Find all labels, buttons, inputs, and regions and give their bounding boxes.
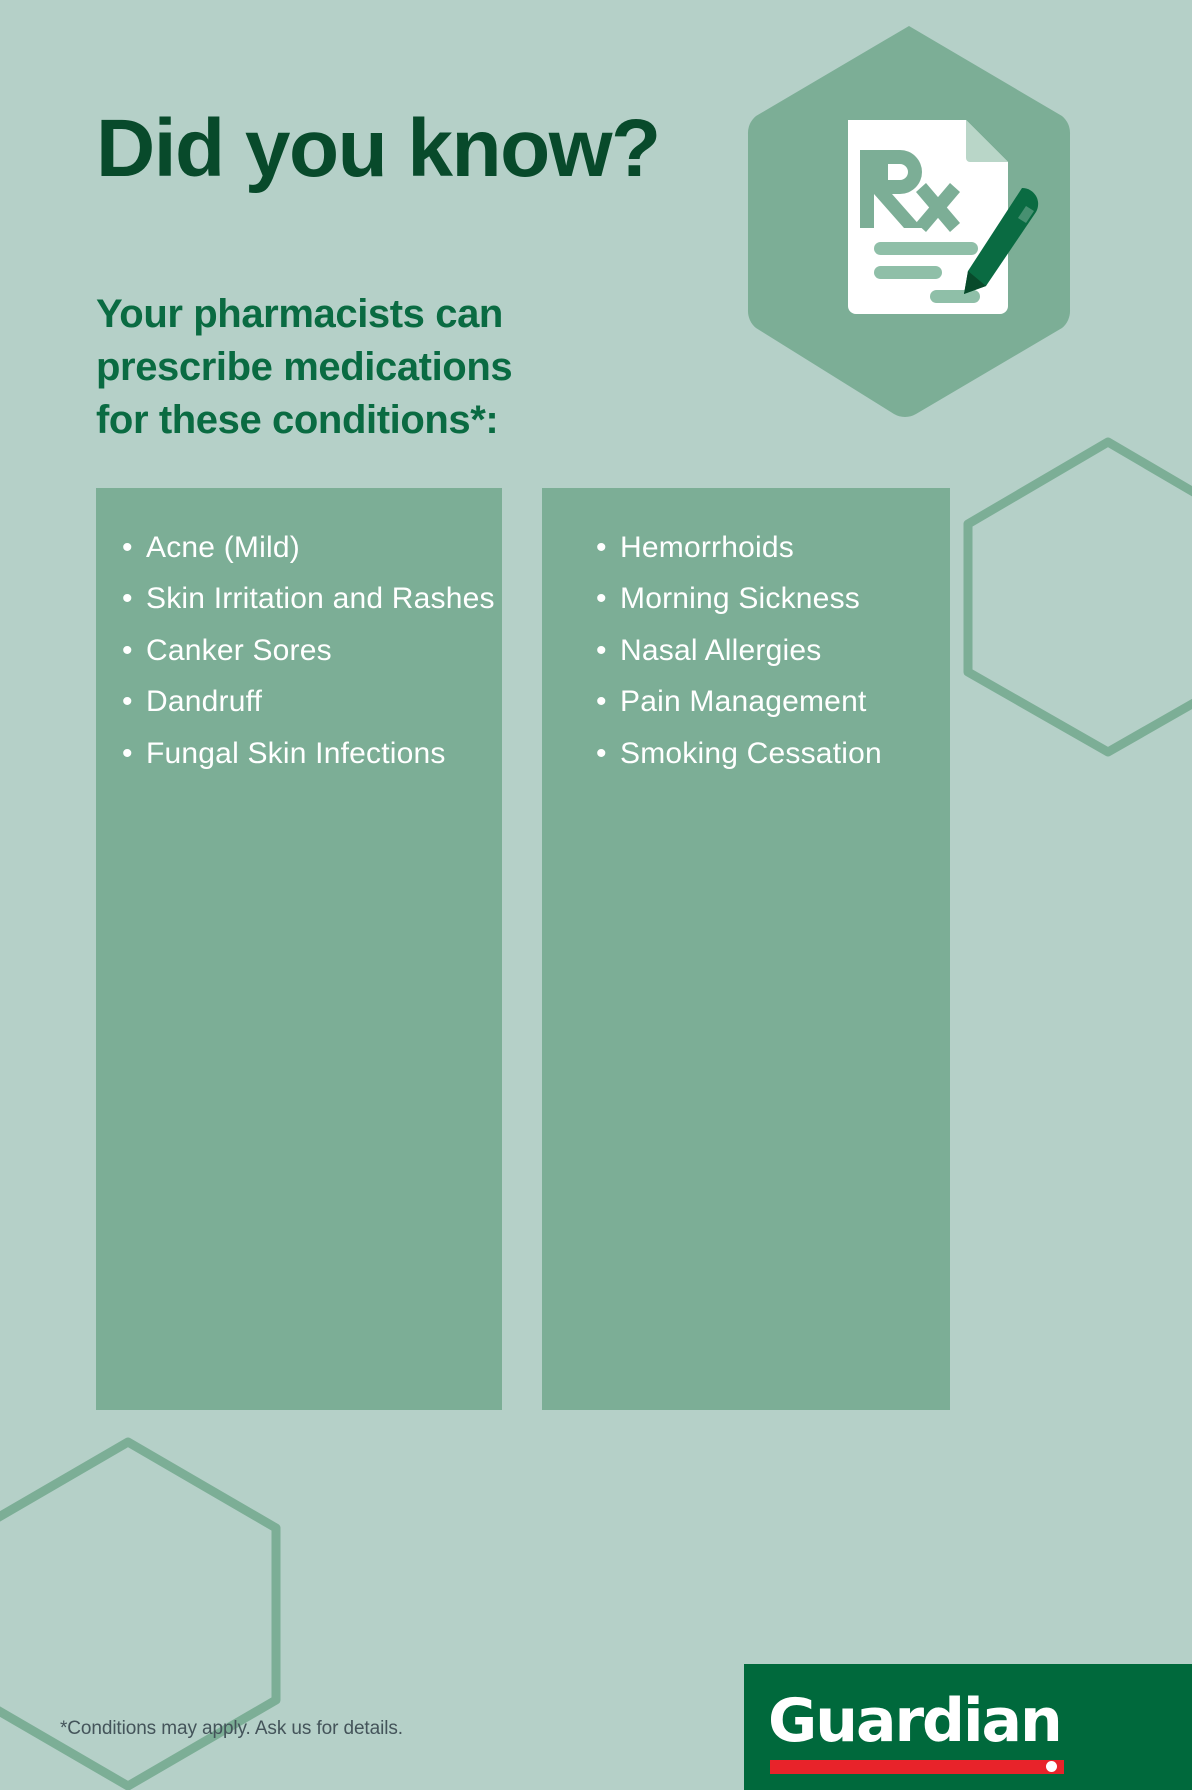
list-item-label: Canker Sores [146,634,332,667]
list-item: • Hemorrhoids [574,524,950,571]
footnote-disclaimer: *Conditions may apply. Ask us for detail… [60,1718,403,1740]
list-item-label: Smoking Cessation [620,737,882,770]
bullet-icon: • [596,627,607,674]
list-item-label: Skin Irritation and Rashes [146,582,495,615]
bullet-icon: • [122,730,133,777]
bullet-icon: • [122,627,133,674]
bullet-icon: • [596,524,607,571]
list-item-label: Nasal Allergies [620,634,821,667]
registered-trademark-icon [1046,1761,1057,1772]
list-item: • Fungal Skin Infections [100,730,502,777]
guardian-logo: Guardian [744,1664,1192,1790]
list-item: • Nasal Allergies [574,627,950,674]
conditions-panel-right: • Hemorrhoids • Morning Sickness • Nasal… [542,488,950,1410]
list-item-label: Fungal Skin Infections [146,737,446,770]
list-item-label: Hemorrhoids [620,531,794,564]
page-title: Did you know? [96,108,660,190]
bullet-icon: • [122,678,133,725]
list-item-label: Acne (Mild) [146,531,300,564]
list-item: • Morning Sickness [574,575,950,622]
list-item-label: Morning Sickness [620,582,860,615]
page-subtitle: Your pharmacists can prescribe medicatio… [96,288,512,448]
list-item: • Acne (Mild) [100,524,502,571]
conditions-list-right: • Hemorrhoids • Morning Sickness • Nasal… [542,488,950,777]
list-item-label: Pain Management [620,685,867,718]
conditions-panel-left: • Acne (Mild) • Skin Irritation and Rash… [96,488,502,1410]
list-item: • Skin Irritation and Rashes [100,575,502,622]
bullet-icon: • [596,575,607,622]
prescription-document-icon [840,110,1040,330]
hexagon-outline-right-decoration [956,432,1192,762]
conditions-list-left: • Acne (Mild) • Skin Irritation and Rash… [96,488,502,777]
poster-canvas: Did you know? Your pharmacists can presc… [0,0,1192,1790]
list-item: • Smoking Cessation [574,730,950,777]
list-item: • Pain Management [574,678,950,725]
bullet-icon: • [596,678,607,725]
list-item: • Canker Sores [100,627,502,674]
bullet-icon: • [596,730,607,777]
logo-wordmark: Guardian [768,1686,1061,1756]
logo-red-bar [770,1760,1064,1774]
bullet-icon: • [122,524,133,571]
list-item: • Dandruff [100,678,502,725]
list-item-label: Dandruff [146,685,262,718]
bullet-icon: • [122,575,133,622]
